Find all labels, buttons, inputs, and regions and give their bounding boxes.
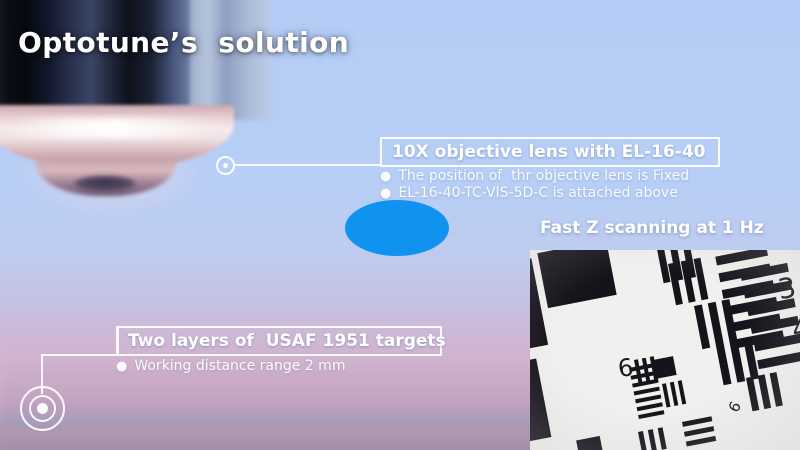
list-item: ● The position of thr objective lens is …: [380, 168, 689, 184]
leader-line-usaf-horizontal: [41, 354, 118, 356]
callout-title-usaf: Two layers of USAF 1951 targets: [128, 331, 446, 351]
leader-line-objective: [234, 164, 382, 166]
usaf-bar: [530, 358, 551, 441]
usaf-bar: [642, 358, 651, 384]
usaf-bar: [746, 377, 759, 412]
usaf-bar: [686, 436, 716, 447]
usaf-bar: [716, 344, 731, 385]
usaf-bar: [662, 383, 671, 407]
usaf-solid-square-bottom: [576, 436, 604, 450]
usaf-bar: [770, 372, 783, 407]
list-item: ● Working distance range 2 mm: [116, 358, 345, 374]
callout-box-usaf[interactable]: Two layers of USAF 1951 targets: [116, 326, 442, 356]
callout-bullets-usaf: ● Working distance range 2 mm: [116, 358, 345, 374]
bullet-dot-icon: ●: [380, 187, 391, 200]
usaf-bar: [637, 402, 663, 411]
leader-line-usaf-vertical: [41, 354, 43, 394]
usaf-bar: [758, 374, 771, 409]
usaf-bar: [694, 258, 709, 301]
objective-barrel-highlight: [190, 0, 270, 120]
callout-bullets-objective: ● The position of thr objective lens is …: [380, 168, 689, 201]
blue-ellipse-overlay: [345, 200, 449, 256]
inset-label-fast-z-scanning: Fast Z scanning at 1 Hz: [540, 218, 764, 238]
page-title: Optotune’s solution: [18, 26, 349, 59]
concentric-target-marker-center: [37, 403, 48, 414]
usaf-bar: [684, 426, 714, 437]
objective-front-lens: [74, 176, 136, 192]
usaf-bar: [638, 410, 664, 419]
slide-canvas: Optotune’s solution 10X objective lens w…: [0, 0, 800, 450]
usaf-bar: [634, 387, 660, 396]
usaf-group-number: 3: [776, 271, 799, 306]
usaf-group-number: 6: [616, 353, 635, 383]
bullet-text: EL-16-40-TC-VIS-5D-C is attached above: [398, 185, 677, 201]
callout-box-objective[interactable]: 10X objective lens with EL-16-40: [380, 137, 720, 167]
bullet-dot-icon: ●: [116, 360, 127, 373]
usaf-bar: [658, 427, 667, 450]
inset-video-usaf-target[interactable]: 3 4 6 6: [530, 250, 800, 450]
bullet-dot-icon: ●: [380, 170, 391, 183]
usaf-bar: [682, 416, 712, 427]
callout-title-objective: 10X objective lens with EL-16-40: [392, 142, 706, 162]
objective-collar-sheen: [8, 118, 218, 138]
usaf-bar: [757, 351, 800, 369]
usaf-bar: [715, 250, 768, 266]
usaf-bar: [648, 429, 657, 450]
usaf-bar: [635, 394, 661, 403]
usaf-bar: [670, 382, 679, 406]
bullet-text: The position of thr objective lens is Fi…: [398, 168, 689, 184]
usaf-bar: [638, 431, 647, 450]
usaf-bar: [708, 302, 724, 347]
usaf-group-number: 6: [725, 399, 745, 416]
list-item: ● EL-16-40-TC-VIS-5D-C is attached above: [380, 185, 689, 201]
usaf-solid-square: [537, 250, 616, 308]
bullet-text: Working distance range 2 mm: [134, 358, 345, 374]
usaf-bar: [694, 304, 710, 349]
usaf-bar: [634, 359, 643, 385]
usaf-bar: [678, 380, 687, 404]
crosshair-target-marker-center: [223, 163, 228, 168]
usaf-target-image: 3 4 6 6: [530, 250, 800, 450]
